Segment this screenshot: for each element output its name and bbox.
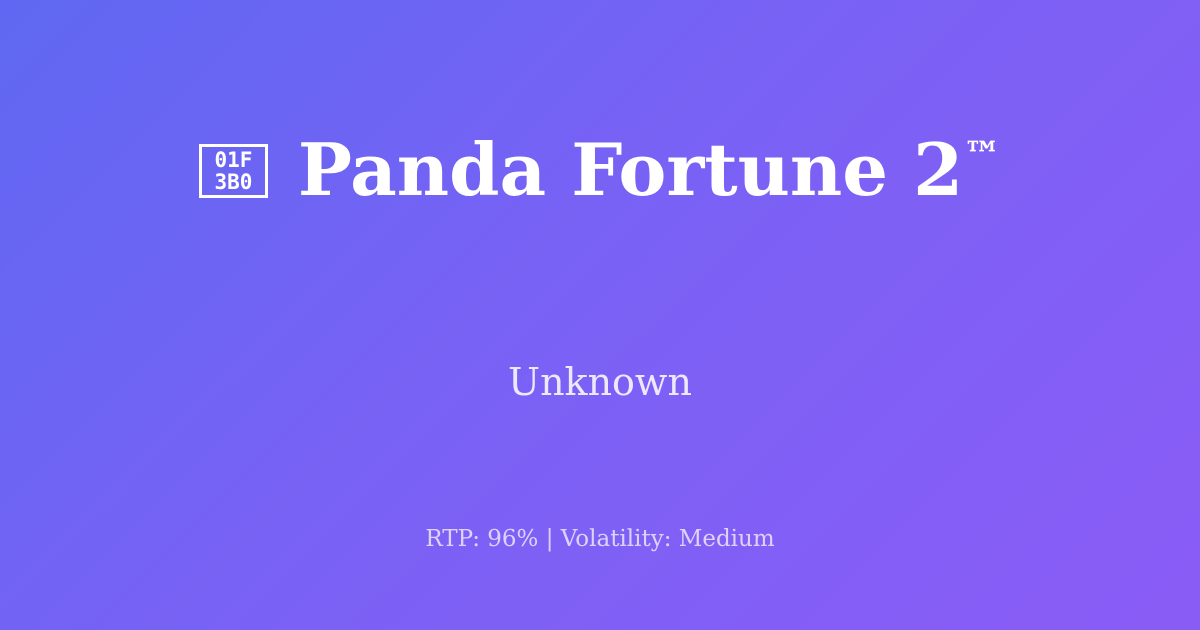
game-name: Panda Fortune 2 <box>298 127 963 212</box>
tofu-codepoint-top: 01F <box>214 149 252 171</box>
page-title: Panda Fortune 2™ <box>298 134 1001 206</box>
trademark-symbol: ™ <box>963 133 1001 177</box>
provider-subtitle: Unknown <box>0 363 1200 401</box>
tofu-codepoint-bottom: 3B0 <box>214 171 252 193</box>
game-info-card: 01F 3B0 Panda Fortune 2™ Unknown RTP: 96… <box>0 0 1200 630</box>
slot-machine-emoji-icon: 01F 3B0 <box>199 144 268 198</box>
game-stats-footer: RTP: 96% | Volatility: Medium <box>0 528 1200 551</box>
title-row: 01F 3B0 Panda Fortune 2™ <box>0 0 1200 340</box>
